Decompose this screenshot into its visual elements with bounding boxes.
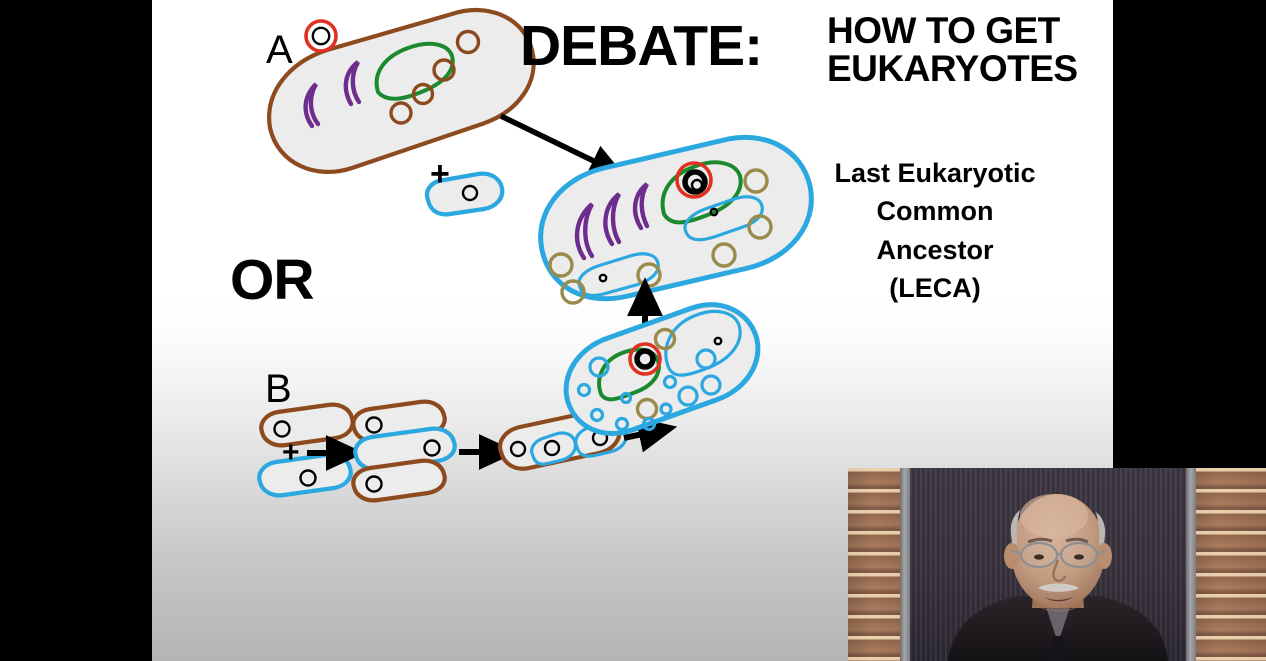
leca-caption-line-2: Common (785, 198, 1085, 225)
leca-caption-line-3: Ancestor (785, 237, 1085, 264)
headline-line-1: HOW TO GET (827, 12, 1060, 49)
video-frame: .memb-brown { fill:#ECECEC; stroke:#8C4A… (0, 0, 1266, 661)
plus-symbol-panel-b: + (282, 438, 300, 468)
panel-b-protoeukaryote-cell (566, 305, 758, 434)
speaker-portrait (848, 468, 1266, 661)
panel-b-step2-stack (353, 402, 454, 501)
panel-b-step1-bacterial-cell (259, 455, 350, 496)
arrow-a-to-leca (501, 116, 604, 166)
debate-title: DEBATE: (520, 18, 762, 75)
plus-symbol-panel-a: + (430, 157, 450, 191)
speaker-video-overlay[interactable] (848, 468, 1266, 661)
panel-label-b: B (265, 367, 292, 412)
headline-line-2: EUKARYOTES (827, 50, 1078, 87)
leca-cell (541, 137, 812, 303)
leca-caption-line-4: (LECA) (785, 275, 1085, 302)
panel-a-archaeal-cell (269, 10, 534, 172)
letterbox-bar-left (0, 0, 152, 661)
or-divider-label: OR (230, 247, 314, 313)
panel-label-a: A (266, 28, 293, 73)
leca-caption-line-1: Last Eukaryotic (785, 160, 1085, 187)
